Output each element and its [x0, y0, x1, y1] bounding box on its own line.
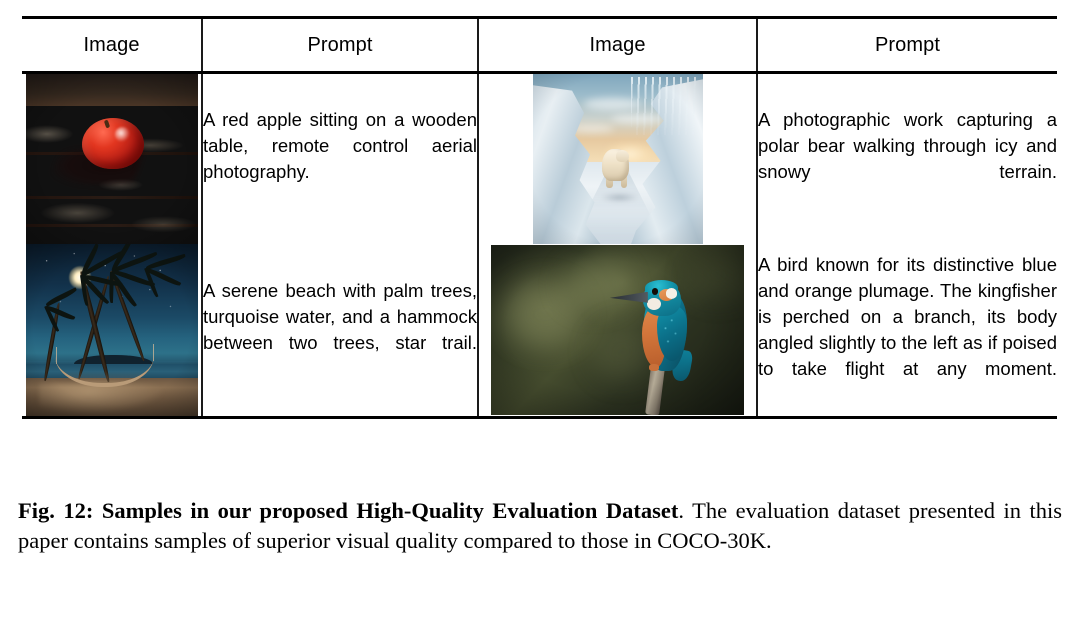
prompt-text: A serene beach with palm trees, turquois… — [203, 278, 477, 382]
sample-image-cell — [22, 244, 202, 416]
sample-image-cell — [22, 74, 202, 244]
prompt-text: A red apple sitting on a wooden table, r… — [203, 107, 477, 211]
red-apple-on-wooden-table-image — [26, 74, 198, 244]
prompt-text: A bird known for its distinctive blue an… — [758, 252, 1057, 408]
column-header-prompt-2: Prompt — [757, 19, 1057, 73]
night-beach-with-hammock-image — [26, 244, 198, 416]
sample-prompt-cell: A serene beach with palm trees, turquois… — [202, 244, 478, 416]
table-bottom-rule — [22, 416, 1057, 419]
sample-image-cell — [478, 244, 757, 416]
sample-prompt-cell: A bird known for its distinctive blue an… — [757, 244, 1057, 416]
sample-image-cell — [478, 74, 757, 244]
figure-caption-title: Samples in our proposed High-Quality Eva… — [102, 498, 679, 523]
samples-table: Image Prompt Image Prompt — [22, 19, 1057, 416]
prompt-text: A photographic work capturing a polar be… — [758, 107, 1057, 211]
column-header-image-1: Image — [22, 19, 202, 73]
figure-page: Image Prompt Image Prompt — [0, 0, 1080, 628]
table-row: A red apple sitting on a wooden table, r… — [22, 74, 1057, 244]
sample-prompt-cell: A photographic work capturing a polar be… — [757, 74, 1057, 244]
table-row: A serene beach with palm trees, turquois… — [22, 244, 1057, 416]
polar-bear-in-ice-canyon-image — [533, 74, 703, 244]
table-header-row: Image Prompt Image Prompt — [22, 19, 1057, 73]
column-header-prompt-1: Prompt — [202, 19, 478, 73]
samples-table-wrapper: Image Prompt Image Prompt — [22, 16, 1057, 419]
sample-prompt-cell: A red apple sitting on a wooden table, r… — [202, 74, 478, 244]
figure-label: Fig. 12: — [18, 498, 93, 523]
column-header-image-2: Image — [478, 19, 757, 73]
figure-caption: Fig. 12: Samples in our proposed High-Qu… — [18, 496, 1062, 556]
kingfisher-on-branch-image — [491, 245, 744, 415]
